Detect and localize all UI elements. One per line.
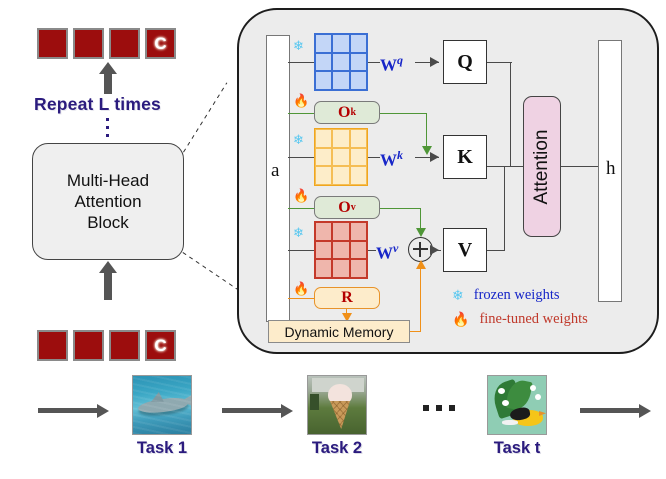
token-label-cls: C bbox=[154, 337, 166, 354]
arrowhead-to-k bbox=[430, 152, 439, 162]
repeat-label: Repeat L times bbox=[34, 94, 161, 115]
multi-head-attention-block[interactable]: Multi-Head Attention Block bbox=[32, 143, 184, 260]
adapter-r: R bbox=[314, 287, 380, 309]
input-activation-label: a bbox=[271, 160, 279, 182]
line-wq-label-left bbox=[368, 62, 380, 63]
snowflake-icon: ❄ bbox=[293, 132, 304, 148]
task-label: Task t bbox=[487, 439, 547, 458]
frozen-weight-matrix-k bbox=[314, 128, 368, 186]
up-arrow-to-output bbox=[104, 73, 112, 94]
token-square bbox=[109, 330, 140, 361]
wv-label: Wv bbox=[376, 240, 398, 264]
task-label: Task 1 bbox=[132, 439, 192, 458]
zoom-connector-top bbox=[183, 82, 228, 152]
line-wv-label-left bbox=[368, 250, 376, 251]
token-square bbox=[37, 28, 68, 59]
line-a-to-wq bbox=[288, 62, 314, 63]
task-item: Task t bbox=[487, 375, 547, 458]
line-a-to-r bbox=[288, 298, 314, 299]
task-image-goldfinch bbox=[487, 375, 547, 435]
token-square-cls: C bbox=[145, 330, 176, 361]
output-activation-label: h bbox=[606, 158, 616, 180]
frozen-weight-matrix-q bbox=[314, 33, 368, 91]
task-ellipsis bbox=[423, 405, 455, 411]
legend-finetuned: 🔥 fine-tuned weights bbox=[452, 311, 588, 328]
task-image-icecream bbox=[307, 375, 367, 435]
task-arrow-1-2 bbox=[222, 408, 282, 413]
line-a-to-ok bbox=[288, 113, 314, 114]
line-v-up bbox=[504, 166, 505, 251]
token-square bbox=[37, 330, 68, 361]
up-arrow-to-mha bbox=[104, 272, 112, 300]
output-token-row: C bbox=[37, 28, 176, 59]
line-ok-down bbox=[426, 113, 427, 148]
legend-frozen-label: frozen weights bbox=[474, 287, 560, 304]
snowflake-icon: ❄ bbox=[293, 225, 304, 241]
task-arrow-in bbox=[38, 408, 98, 413]
attention-label: Attention bbox=[531, 129, 553, 204]
line-ok-to-branch bbox=[380, 113, 427, 114]
arrowhead-memory-into-sum bbox=[416, 260, 426, 269]
snowflake-icon: ❄ bbox=[452, 287, 464, 304]
line-a-to-wk bbox=[288, 157, 314, 158]
task-item: Task 2 bbox=[307, 375, 367, 458]
line-v-out bbox=[487, 250, 505, 251]
wk-label: Wk bbox=[380, 147, 403, 171]
q-box: Q bbox=[443, 40, 487, 84]
task-item: Task 1 bbox=[132, 375, 192, 458]
line-q-out bbox=[487, 62, 512, 63]
token-square-cls: C bbox=[145, 28, 176, 59]
token-label-cls: C bbox=[154, 35, 166, 52]
token-square bbox=[73, 330, 104, 361]
flame-icon: 🔥 bbox=[293, 93, 309, 109]
flame-icon: 🔥 bbox=[293, 281, 309, 297]
attention-operator[interactable]: Attention bbox=[523, 96, 561, 237]
repeat-dots bbox=[106, 118, 109, 142]
line-attention-to-h bbox=[561, 166, 601, 167]
line-ov-to-branch bbox=[380, 208, 421, 209]
dynamic-memory-box[interactable]: Dynamic Memory bbox=[268, 320, 410, 343]
arrowhead-to-q bbox=[430, 57, 439, 67]
input-token-row: C bbox=[37, 330, 176, 361]
legend-frozen: ❄ frozen weights bbox=[452, 287, 560, 304]
line-memory-up bbox=[420, 268, 421, 332]
adapter-ok: Ok bbox=[314, 101, 380, 124]
task-image-shark bbox=[132, 375, 192, 435]
mha-line-3: Block bbox=[67, 212, 149, 233]
flame-icon: 🔥 bbox=[293, 188, 309, 204]
snowflake-icon: ❄ bbox=[293, 38, 304, 54]
task-label: Task 2 bbox=[307, 439, 367, 458]
v-box: V bbox=[443, 228, 487, 272]
wq-label: Wq bbox=[380, 52, 403, 76]
token-square bbox=[73, 28, 104, 59]
mha-line-2: Attention bbox=[67, 191, 149, 212]
line-a-to-wv bbox=[288, 250, 314, 251]
task-arrow-out bbox=[580, 408, 640, 413]
line-wk-label-left bbox=[368, 157, 380, 158]
mha-line-1: Multi-Head bbox=[67, 170, 149, 191]
adapter-ov: Ov bbox=[314, 196, 380, 219]
line-a-to-ov bbox=[288, 208, 314, 209]
arrowhead-to-v bbox=[430, 245, 439, 255]
arrowhead-ov-into-sum bbox=[416, 228, 426, 237]
legend-finetuned-label: fine-tuned weights bbox=[479, 311, 587, 328]
frozen-weight-matrix-v bbox=[314, 221, 368, 279]
line-q-down bbox=[510, 62, 511, 167]
token-square bbox=[109, 28, 140, 59]
flame-icon: 🔥 bbox=[452, 311, 469, 328]
k-box: K bbox=[443, 135, 487, 179]
line-ov-down bbox=[420, 208, 421, 230]
